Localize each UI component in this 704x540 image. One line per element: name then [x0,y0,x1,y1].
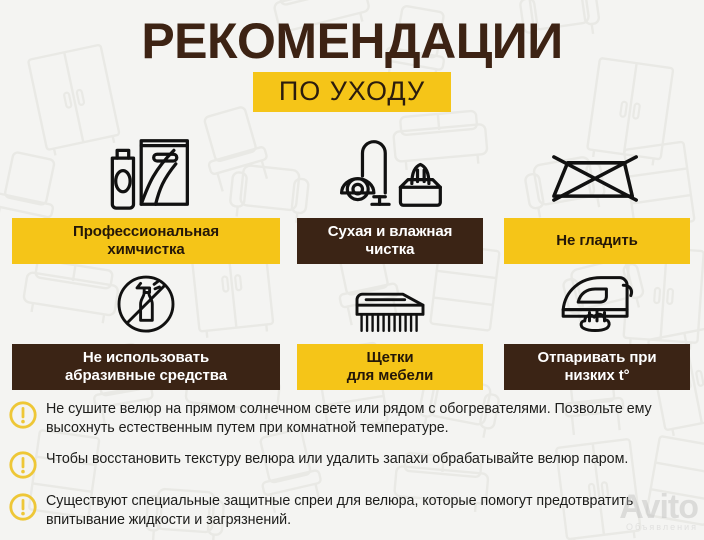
warning-exclamation-icon [8,400,38,430]
care-note-item: Не сушите велюр на прямом солнечном свет… [8,399,698,438]
label-line-2: химчистка [107,241,184,258]
no-spray-abrasive-icon [12,270,280,338]
detergent-bottle-and-pouch-icon [12,134,280,212]
label-line-2: для мебели [347,367,434,384]
care-note-item: Чтобы восстановить текстуру велюра или у… [8,449,698,480]
poster-header: РЕКОМЕНДАЦИИ ПО УХОДУ [0,16,704,112]
care-card-label: Профессиональная химчистка [12,218,280,264]
warning-exclamation-icon [8,450,38,480]
label-line-1: Не гладить [556,232,637,250]
care-card-no-ironing: Не гладить [504,134,690,264]
care-card-label: Щетки для мебели [297,344,483,390]
label-line-1: Щетки [366,349,413,366]
label-line-1: Отпаривать при [538,349,657,366]
care-note-text: Не сушите велюр на прямом солнечном свет… [46,399,698,438]
care-notes-list: Не сушите велюр на прямом солнечном свет… [8,399,698,540]
furniture-brush-icon [297,270,483,338]
warning-exclamation-icon [8,492,38,522]
care-card-label: Отпаривать при низких t° [504,344,690,390]
page-title: РЕКОМЕНДАЦИИ [0,16,704,66]
no-ironing-icon [504,134,690,212]
care-card-label: Не использовать абразивные средства [12,344,280,390]
care-card-steam-low-temperature: Отпаривать при низких t° [504,270,690,390]
care-card-professional-dry-cleaning: Профессиональная химчистка [12,134,280,264]
care-recommendations-poster: РЕКОМЕНДАЦИИ ПО УХОДУ [0,0,704,540]
vacuum-cleaner-and-wipes-icon [297,134,483,212]
label-line-2: чистка [366,241,415,258]
care-note-text: Чтобы восстановить текстуру велюра или у… [46,449,628,469]
care-note-item: Существуют специальные защитные спреи дл… [8,491,698,530]
label-line-2: низких t° [564,367,629,384]
label-line-2: абразивные средства [65,367,227,384]
care-card-label: Не гладить [504,218,690,264]
label-line-1: Профессиональная [73,223,219,240]
care-card-furniture-brushes: Щетки для мебели [297,270,483,390]
page-subtitle-badge: ПО УХОДУ [253,72,451,112]
steam-iron-icon [504,270,690,338]
care-card-label: Сухая и влажная чистка [297,218,483,264]
care-card-dry-and-wet-cleaning: Сухая и влажная чистка [297,134,483,264]
label-line-1: Сухая и влажная [328,223,453,240]
care-note-text: Существуют специальные защитные спреи дл… [46,491,698,530]
care-card-no-abrasives: Не использовать абразивные средства [12,270,280,390]
label-line-1: Не использовать [83,349,209,366]
